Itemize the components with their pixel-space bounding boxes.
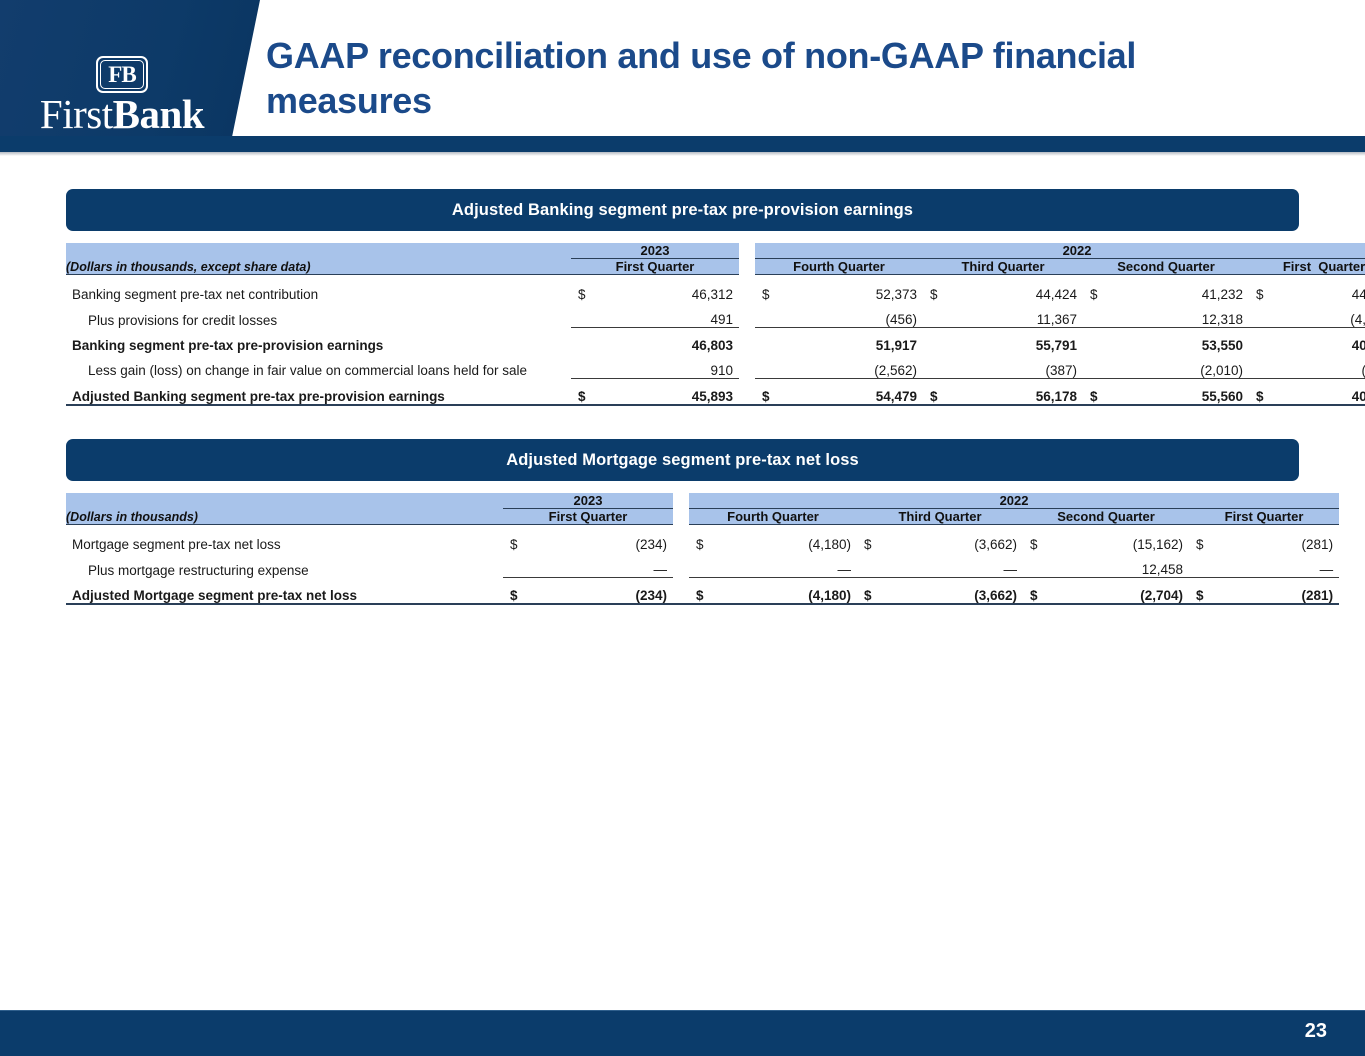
cell-value: 910 — [611, 353, 739, 379]
currency-symbol: $ — [1083, 277, 1123, 302]
column-header-q4-2022: Fourth Quarter — [755, 259, 923, 275]
table-row: Adjusted Mortgage segment pre-tax net lo… — [66, 578, 1339, 605]
column-header-q2-2022: Second Quarter — [1023, 509, 1189, 525]
header-accent-strip — [0, 136, 1365, 152]
table-row: Less gain (loss) on change in fair value… — [66, 353, 1365, 379]
cell-value: — — [897, 552, 1023, 578]
cell-value: 55,791 — [963, 328, 1083, 354]
cell-value: (234) — [543, 578, 673, 605]
cell-value: 55,560 — [1123, 379, 1249, 406]
currency-symbol: $ — [571, 379, 611, 406]
logo-word-first: First — [40, 91, 113, 137]
units-label: (Dollars in thousands) — [66, 509, 503, 525]
column-header-q3-2022: Third Quarter — [857, 509, 1023, 525]
cell-value: (4,247) — [1289, 302, 1365, 328]
currency-symbol: $ — [857, 527, 897, 552]
cell-value: (281) — [1229, 578, 1339, 605]
cell-value: 41,232 — [1123, 277, 1249, 302]
cell-value: (2,562) — [795, 353, 923, 379]
year-group-2022: 2022 — [689, 493, 1339, 509]
table-row: Plus provisions for credit losses 491 (4… — [66, 302, 1365, 328]
currency-symbol: $ — [689, 527, 729, 552]
currency-symbol: $ — [755, 379, 795, 406]
table-header-year-row: 2023 2022 — [66, 243, 1365, 259]
cell-value: (2,010) — [1123, 353, 1249, 379]
cell-value: 44,424 — [963, 277, 1083, 302]
firstbank-logo: FB FirstBank — [22, 56, 222, 134]
cell-value: 46,312 — [611, 277, 739, 302]
cell-value: — — [543, 552, 673, 578]
fb-monogram-label: FB — [108, 63, 135, 86]
cell-value: 491 — [611, 302, 739, 328]
cell-value: 52,373 — [795, 277, 923, 302]
cell-value: (234) — [543, 527, 673, 552]
cell-value: 54,479 — [795, 379, 923, 406]
currency-symbol: $ — [571, 277, 611, 302]
cell-value: — — [729, 552, 857, 578]
fb-monogram-icon: FB — [96, 56, 148, 93]
table-header-quarter-row: (Dollars in thousands, except share data… — [66, 259, 1365, 275]
row-label: Adjusted Banking segment pre-tax pre-pro… — [66, 379, 571, 406]
cell-value: 45,893 — [611, 379, 739, 406]
row-label: Banking segment pre-tax net contribution — [66, 277, 571, 302]
section-mortgage-segment: Adjusted Mortgage segment pre-tax net lo… — [66, 439, 1299, 610]
banking-reconciliation-table: 2023 2022 (Dollars in thousands, except … — [66, 243, 1365, 411]
currency-symbol: $ — [923, 379, 963, 406]
currency-symbol: $ — [1023, 527, 1063, 552]
table-bottom-rule — [66, 405, 1365, 411]
currency-symbol: $ — [1249, 379, 1289, 406]
cell-value: 40,583 — [1289, 328, 1365, 354]
table-row: Plus mortgage restructuring expense — — … — [66, 552, 1339, 578]
table-row: Banking segment pre-tax pre-provision ea… — [66, 328, 1365, 354]
cell-value: 53,550 — [1123, 328, 1249, 354]
table-row: Mortgage segment pre-tax net loss $ (234… — [66, 527, 1339, 552]
year-group-2023: 2023 — [503, 493, 673, 509]
table-header-year-row: 2023 2022 — [66, 493, 1339, 509]
units-label: (Dollars in thousands, except share data… — [66, 259, 571, 275]
cell-value: 40,757 — [1289, 379, 1365, 406]
row-label: Adjusted Mortgage segment pre-tax net lo… — [66, 578, 503, 605]
currency-symbol: $ — [1083, 379, 1123, 406]
cell-value: 12,458 — [1063, 552, 1189, 578]
cell-value: (281) — [1229, 527, 1339, 552]
year-group-2022: 2022 — [755, 243, 1365, 259]
currency-symbol: $ — [857, 578, 897, 605]
mortgage-reconciliation-table: 2023 2022 (Dollars in thousands) First Q… — [66, 493, 1339, 610]
row-label: Plus mortgage restructuring expense — [66, 552, 503, 578]
currency-symbol: $ — [1249, 277, 1289, 302]
logo-wordmark: FirstBank — [22, 94, 222, 134]
section-banking-segment: Adjusted Banking segment pre-tax pre-pro… — [66, 189, 1299, 411]
column-header-q2-2022: Second Quarter — [1083, 259, 1249, 275]
cell-value: (3,662) — [897, 578, 1023, 605]
column-header-q1-2022: First Quarter — [1249, 259, 1365, 275]
cell-value: (4,180) — [729, 578, 857, 605]
column-header-q4-2022: Fourth Quarter — [689, 509, 857, 525]
table-header-quarter-row: (Dollars in thousands) First Quarter Fou… — [66, 509, 1339, 525]
slide-footer: 23 — [0, 1010, 1365, 1056]
table-row: Banking segment pre-tax net contribution… — [66, 277, 1365, 302]
cell-value: 11,367 — [963, 302, 1083, 328]
cell-value: (456) — [795, 302, 923, 328]
table-bottom-rule — [66, 604, 1339, 610]
cell-value: (3,662) — [897, 527, 1023, 552]
cell-value: (387) — [963, 353, 1083, 379]
cell-value: 56,178 — [963, 379, 1083, 406]
currency-symbol: $ — [503, 527, 543, 552]
table-row: Adjusted Banking segment pre-tax pre-pro… — [66, 379, 1365, 406]
banking-section-banner: Adjusted Banking segment pre-tax pre-pro… — [66, 189, 1299, 231]
row-label: Banking segment pre-tax pre-provision ea… — [66, 328, 571, 354]
cell-value: (15,162) — [1063, 527, 1189, 552]
cell-value: — — [1229, 552, 1339, 578]
page-number: 23 — [1305, 1020, 1327, 1043]
currency-symbol: $ — [1023, 578, 1063, 605]
row-label: Less gain (loss) on change in fair value… — [66, 353, 571, 379]
currency-symbol: $ — [689, 578, 729, 605]
cell-value: (4,180) — [729, 527, 857, 552]
cell-value: 46,803 — [611, 328, 739, 354]
logo-word-bank: Bank — [113, 91, 204, 137]
column-header-q1-2022: First Quarter — [1189, 509, 1339, 525]
year-group-2023: 2023 — [571, 243, 739, 259]
slide-body: Adjusted Banking segment pre-tax pre-pro… — [0, 156, 1365, 1010]
currency-symbol: $ — [1189, 578, 1229, 605]
currency-symbol: $ — [923, 277, 963, 302]
slide-header: FB FirstBank GAAP reconciliation and use… — [0, 0, 1365, 152]
cell-value: 44,830 — [1289, 277, 1365, 302]
currency-symbol: $ — [503, 578, 543, 605]
row-label: Plus provisions for credit losses — [66, 302, 571, 328]
mortgage-section-banner: Adjusted Mortgage segment pre-tax net lo… — [66, 439, 1299, 481]
cell-value: (2,704) — [1063, 578, 1189, 605]
cell-value: 12,318 — [1123, 302, 1249, 328]
page-title: GAAP reconciliation and use of non-GAAP … — [266, 34, 1266, 123]
column-header-q3-2022: Third Quarter — [923, 259, 1083, 275]
cell-value: (174) — [1289, 353, 1365, 379]
currency-symbol: $ — [1189, 527, 1229, 552]
column-header-q1-2023: First Quarter — [503, 509, 673, 525]
column-header-q1-2023: First Quarter — [571, 259, 739, 275]
cell-value: 51,917 — [795, 328, 923, 354]
currency-symbol: $ — [755, 277, 795, 302]
row-label: Mortgage segment pre-tax net loss — [66, 527, 503, 552]
